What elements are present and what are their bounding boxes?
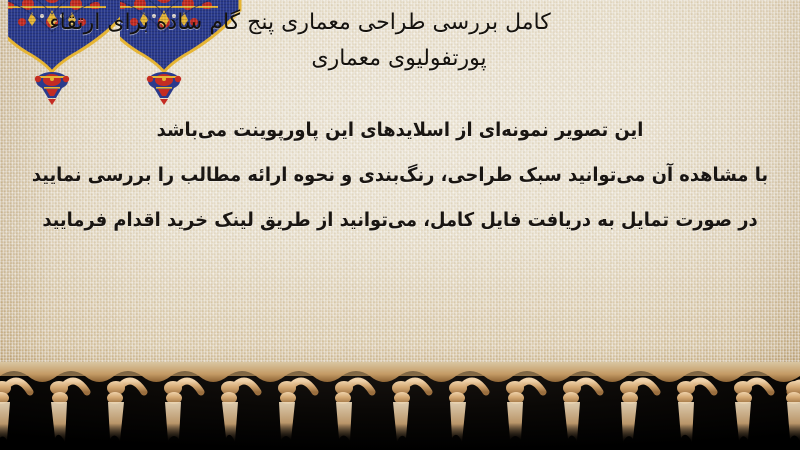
carpet-canvas-background	[0, 0, 800, 376]
carpet-knotted-fringe	[0, 362, 800, 450]
canvas-weave-texture-diagonal	[0, 0, 800, 376]
fringe-knot-group	[0, 381, 800, 442]
canvas-weave-texture	[0, 0, 800, 376]
slide-root: کامل بررسی طراحی معماری پنج گام ساده برا…	[0, 0, 800, 450]
